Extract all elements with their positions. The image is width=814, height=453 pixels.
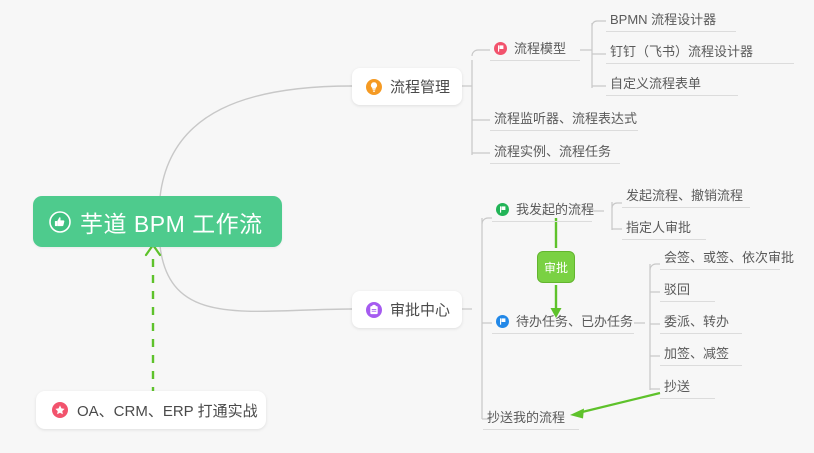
star-icon bbox=[52, 402, 68, 418]
node-label: 指定人审批 bbox=[626, 221, 691, 234]
node-label: 流程监听器、流程表达式 bbox=[494, 112, 637, 125]
node-label: 钉钉（飞书）流程设计器 bbox=[610, 45, 753, 58]
root-node[interactable]: 芋道 BPM 工作流 bbox=[33, 196, 282, 247]
node-process-model[interactable]: 流程模型 bbox=[490, 40, 580, 61]
node-label: 发起流程、撤销流程 bbox=[626, 189, 743, 202]
node-label: 自定义流程表单 bbox=[610, 77, 701, 90]
annotation-tag-approval[interactable]: 审批 bbox=[537, 251, 575, 283]
node-countersign[interactable]: 会签、或签、依次审批 bbox=[660, 249, 780, 270]
node-listener-expression[interactable]: 流程监听器、流程表达式 bbox=[490, 110, 638, 131]
clipboard-icon bbox=[366, 302, 382, 318]
node-label: BPMN 流程设计器 bbox=[610, 13, 716, 26]
flag-icon bbox=[494, 42, 507, 55]
note-label: OA、CRM、ERP 打通实战 bbox=[77, 400, 258, 421]
node-label: 流程模型 bbox=[514, 42, 566, 55]
node-start-cancel-process[interactable]: 发起流程、撤销流程 bbox=[622, 187, 750, 208]
node-cc-to-me[interactable]: 抄送我的流程 bbox=[483, 409, 579, 430]
node-label: 流程实例、流程任务 bbox=[494, 145, 611, 158]
annotation-label: 审批 bbox=[544, 259, 568, 276]
thumbs-up-icon bbox=[49, 211, 71, 233]
node-todo-done-tasks[interactable]: 待办任务、已办任务 bbox=[492, 313, 634, 334]
node-label: 会签、或签、依次审批 bbox=[664, 251, 794, 264]
node-label: 加签、减签 bbox=[664, 347, 729, 360]
node-my-initiated-process[interactable]: 我发起的流程 bbox=[492, 201, 592, 222]
branch-label: 审批中心 bbox=[390, 299, 450, 320]
node-cc[interactable]: 抄送 bbox=[660, 378, 715, 399]
note-card-integration[interactable]: OA、CRM、ERP 打通实战 bbox=[36, 391, 266, 429]
lightbulb-icon bbox=[366, 79, 382, 95]
flag-icon bbox=[496, 315, 509, 328]
node-label: 抄送我的流程 bbox=[487, 411, 565, 424]
root-label: 芋道 BPM 工作流 bbox=[80, 205, 263, 239]
node-instance-task[interactable]: 流程实例、流程任务 bbox=[490, 143, 620, 164]
node-label: 驳回 bbox=[664, 283, 690, 296]
node-add-remove-sign[interactable]: 加签、减签 bbox=[660, 345, 742, 366]
node-dingtalk-feishu-designer[interactable]: 钉钉（飞书）流程设计器 bbox=[606, 43, 794, 64]
node-custom-process-form[interactable]: 自定义流程表单 bbox=[606, 75, 738, 96]
flag-icon bbox=[496, 203, 509, 216]
node-reject[interactable]: 驳回 bbox=[660, 281, 715, 302]
branch-node-process-management[interactable]: 流程管理 bbox=[352, 68, 462, 105]
node-label: 抄送 bbox=[664, 380, 690, 393]
branch-node-approval-center[interactable]: 审批中心 bbox=[352, 291, 462, 328]
node-assignee-approval[interactable]: 指定人审批 bbox=[622, 219, 706, 240]
mindmap-canvas: 芋道 BPM 工作流 流程管理 流程模型 BPMN 流程设计器 钉钉（飞书）流 bbox=[0, 0, 814, 453]
branch-label: 流程管理 bbox=[390, 76, 450, 97]
node-label: 我发起的流程 bbox=[516, 203, 594, 216]
node-bpmn-designer[interactable]: BPMN 流程设计器 bbox=[606, 11, 736, 32]
node-label: 委派、转办 bbox=[664, 315, 729, 328]
node-label: 待办任务、已办任务 bbox=[516, 315, 633, 328]
node-delegate-transfer[interactable]: 委派、转办 bbox=[660, 313, 742, 334]
